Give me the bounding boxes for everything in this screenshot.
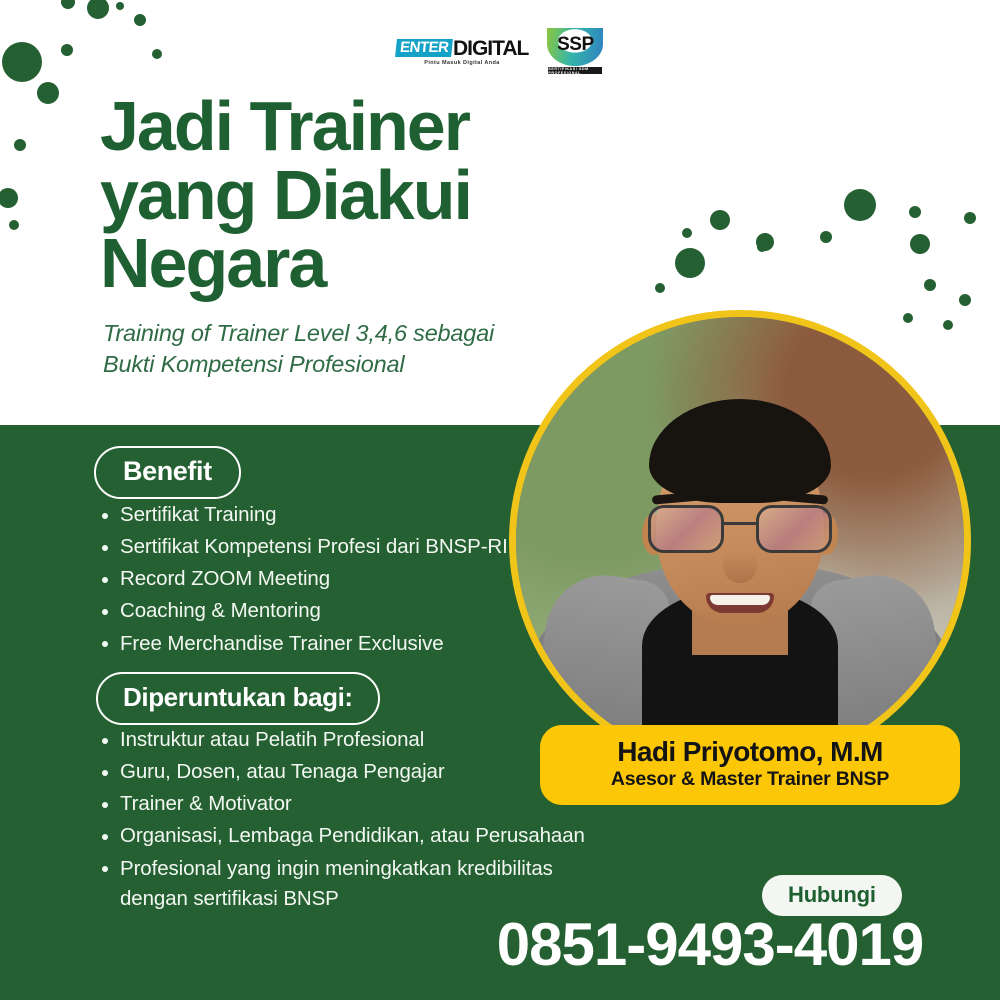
enter-digital-wordmark: ENTER DIGITAL [396, 38, 529, 59]
decorative-dot [710, 210, 730, 230]
benefit-list: Sertifikat TrainingSertifikat Kompetensi… [94, 500, 564, 661]
target-audience-badge: Diperuntukan bagi: [96, 672, 380, 725]
promotional-poster: ENTER DIGITAL Pintu Masuk Digital Anda S… [0, 0, 1000, 1000]
speaker-role: Asesor & Master Trainer BNSP [540, 768, 960, 791]
contact-phone-number[interactable]: 0851-9493-4019 [470, 910, 950, 979]
decorative-dot [844, 189, 876, 221]
decorative-dot [61, 0, 75, 9]
page-title: Jadi Trainer yang Diakui Negara [100, 92, 620, 298]
subtitle-line-1: Training of Trainer Level 3,4,6 sebagai [103, 318, 573, 349]
target-audience-item: Organisasi, Lembaga Pendidikan, atau Per… [94, 821, 614, 851]
speaker-photo: G-COAC [516, 317, 964, 765]
eyeglasses-icon [648, 505, 832, 557]
ssp-logo: SSP SERTIFIKASI SDM PROFESIONAL [546, 28, 604, 76]
digital-logo-text: DIGITAL [453, 38, 528, 59]
eyeglass-lens-right [756, 505, 832, 553]
decorative-dot [37, 82, 59, 104]
eyeglass-lens-left [648, 505, 724, 553]
decorative-dot [87, 0, 109, 19]
headline-line-2: yang Diakui [100, 161, 620, 230]
ssp-arc-icon: SSP [547, 28, 603, 66]
speaker-mouth [706, 593, 774, 613]
page-subtitle: Training of Trainer Level 3,4,6 sebagai … [103, 318, 573, 381]
ssp-logo-text: SSP [557, 34, 594, 56]
decorative-dot [116, 2, 124, 10]
enter-logo-text: ENTER [395, 39, 453, 57]
subtitle-line-2: Bukti Kompetensi Profesional [103, 349, 573, 380]
benefit-item: Coaching & Mentoring [94, 596, 564, 626]
ssp-bar-text: SERTIFIKASI SDM PROFESIONAL [548, 67, 602, 74]
decorative-dot [924, 279, 936, 291]
decorative-dot [909, 206, 921, 218]
benefit-badge: Benefit [94, 446, 241, 499]
enter-digital-tagline: Pintu Masuk Digital Anda [424, 61, 499, 67]
decorative-dot [964, 212, 976, 224]
enter-digital-logo: ENTER DIGITAL Pintu Masuk Digital Anda [396, 38, 529, 67]
decorative-dot [9, 220, 19, 230]
decorative-dot [675, 248, 705, 278]
benefit-item: Sertifikat Training [94, 500, 564, 530]
decorative-dot [14, 139, 26, 151]
benefit-item: Sertifikat Kompetensi Profesi dari BNSP-… [94, 532, 564, 562]
logo-row: ENTER DIGITAL Pintu Masuk Digital Anda S… [0, 28, 1000, 76]
benefit-item: Record ZOOM Meeting [94, 564, 564, 594]
headline-line-3: Negara [100, 229, 620, 298]
decorative-dot [655, 283, 665, 293]
speaker-portrait: G-COAC [509, 310, 971, 772]
benefit-item: Free Merchandise Trainer Exclusive [94, 629, 564, 659]
decorative-dot [682, 228, 692, 238]
headline-line-1: Jadi Trainer [100, 92, 620, 161]
decorative-dot [0, 188, 18, 208]
decorative-dot [134, 14, 146, 26]
decorative-dot [910, 234, 930, 254]
target-audience-item: Profesional yang ingin meningkatkan kred… [94, 854, 614, 914]
speaker-name-card: Hadi Priyotomo, M.M Asesor & Master Trai… [540, 725, 960, 805]
eyeglass-bridge [724, 522, 756, 525]
speaker-name: Hadi Priyotomo, M.M [540, 736, 960, 767]
target-audience-item: Trainer & Motivator [94, 789, 614, 819]
speaker-teeth [710, 595, 770, 605]
decorative-dot [757, 242, 767, 252]
decorative-dot [820, 231, 832, 243]
decorative-dot [959, 294, 971, 306]
